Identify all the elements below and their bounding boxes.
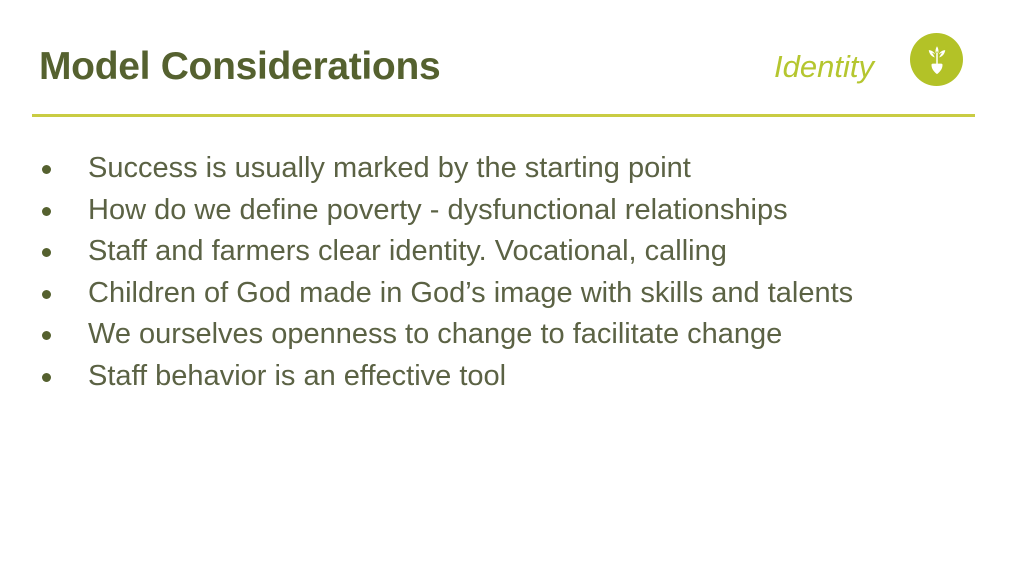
list-item: Success is usually marked by the startin…	[34, 148, 1002, 190]
slide-header: Model Considerations Identity	[0, 0, 1024, 118]
page-title: Model Considerations	[39, 44, 440, 90]
list-item-label: Children of God made in God’s image with…	[88, 273, 1002, 315]
list-item-label: We ourselves openness to change to facil…	[88, 314, 1002, 356]
list-item-label: Staff and farmers clear identity. Vocati…	[88, 231, 1002, 273]
bullet-list: Success is usually marked by the startin…	[34, 148, 1002, 397]
list-item: Staff behavior is an effective tool	[34, 356, 1002, 398]
bullet-dot-icon	[42, 248, 51, 257]
slide-canvas: Model Considerations Identity	[0, 0, 1024, 576]
bullet-dot-icon	[42, 207, 51, 216]
bullet-dot-icon	[42, 165, 51, 174]
bullet-dot-icon	[42, 331, 51, 340]
list-item: Children of God made in God’s image with…	[34, 273, 1002, 315]
section-tag-label: Identity	[774, 46, 874, 88]
title-divider	[32, 114, 975, 117]
list-item: Staff and farmers clear identity. Vocati…	[34, 231, 1002, 273]
brand-logo	[910, 33, 963, 86]
list-item-label: How do we define poverty - dysfunctional…	[88, 190, 1002, 232]
list-item: We ourselves openness to change to facil…	[34, 314, 1002, 356]
bullet-dot-icon	[42, 290, 51, 299]
list-item-label: Success is usually marked by the startin…	[88, 148, 1002, 190]
sprout-shovel-logo-icon	[920, 43, 954, 77]
bullet-dot-icon	[42, 373, 51, 382]
list-item-label: Staff behavior is an effective tool	[88, 356, 1002, 398]
list-item: How do we define poverty - dysfunctional…	[34, 190, 1002, 232]
